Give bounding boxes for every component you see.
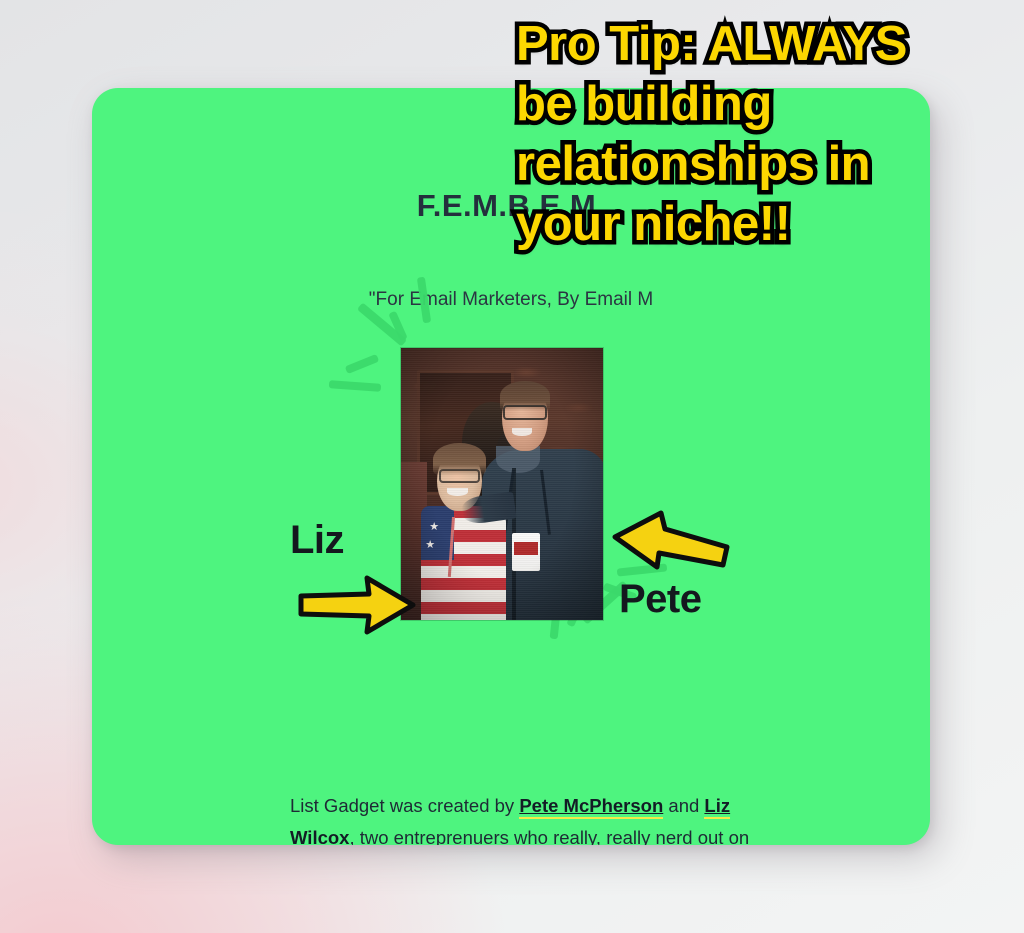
body-segment-2: and bbox=[663, 795, 704, 816]
link-pete-mcpherson[interactable]: Pete McPherson bbox=[519, 795, 663, 819]
body-segment-3: , two entreprenuers who really, really n… bbox=[290, 827, 749, 845]
caption-line-3: relationships in bbox=[516, 134, 1024, 194]
arrow-left-icon bbox=[609, 509, 731, 571]
caption-line-4: your niche!! bbox=[516, 194, 1024, 254]
screenshot-stage: F.E.M.B.E.M. "For Email Marketers, By Em… bbox=[0, 0, 1024, 933]
body-segment-1: List Gadget was created by bbox=[290, 795, 519, 816]
caption-line-1: Pro Tip: ALWAYS bbox=[516, 14, 1024, 74]
sparkle-ray bbox=[417, 277, 431, 324]
sparkle-ray bbox=[345, 354, 380, 374]
caption-line-2: be building bbox=[516, 74, 1024, 134]
about-body-text: List Gadget was created by Pete McPherso… bbox=[290, 790, 750, 845]
pete-and-liz-photo: ★ ★ bbox=[401, 348, 603, 620]
sparkle-ray bbox=[329, 380, 381, 392]
arrow-right-icon bbox=[297, 574, 417, 636]
pete-label: Pete bbox=[619, 577, 702, 622]
liz-label: Liz bbox=[290, 518, 344, 563]
caption-overlay: Pro Tip: ALWAYS be building relationship… bbox=[516, 14, 1024, 254]
